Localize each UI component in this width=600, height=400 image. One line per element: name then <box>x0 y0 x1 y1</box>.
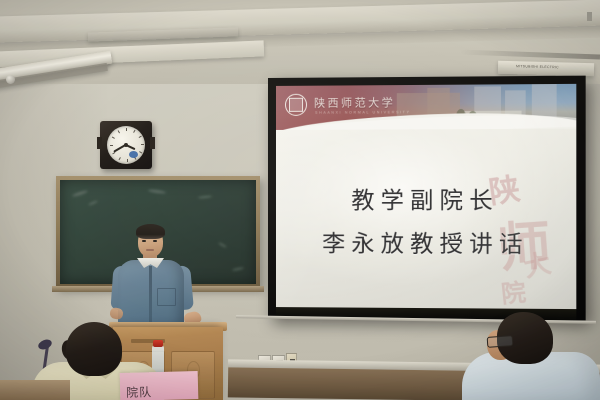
screen-roller-housing: MITSUBISHI ELECTRIC <box>498 61 594 77</box>
pink-sign-text: 院队 <box>126 383 152 400</box>
speaker-mouth <box>146 249 154 251</box>
university-seal-icon <box>285 94 307 116</box>
speaker-shirt-pocket <box>157 288 176 306</box>
front-desk-edge <box>0 380 70 400</box>
clock-brand-mark <box>129 151 138 158</box>
speaker-eye-left <box>142 240 146 242</box>
projection-screen[interactable]: 陕西师范大学 SHAANXI NORMAL UNIVERSITY 陕 师 大 院… <box>268 76 586 321</box>
water-bottle-cap <box>153 340 163 347</box>
slide-header-band: 陕西师范大学 SHAANXI NORMAL UNIVERSITY <box>276 84 576 130</box>
screen-surface: 陕西师范大学 SHAANXI NORMAL UNIVERSITY 陕 师 大 院… <box>276 84 576 309</box>
clock-center-pin <box>124 143 128 147</box>
glasses-icon <box>487 335 514 348</box>
sprinkler-icon <box>6 75 15 84</box>
speaker-eye-right <box>153 240 157 242</box>
university-name-cn: 陕西师范大学 <box>314 94 395 111</box>
speaker-shirt-placket <box>149 266 152 328</box>
speaker-hair <box>136 224 165 239</box>
pink-name-sign: 院队 <box>120 371 199 400</box>
watermark-char-4: 院 <box>499 272 527 309</box>
housing-bracket <box>587 12 592 21</box>
housing-brand-label: MITSUBISHI ELECTRIC <box>516 64 559 69</box>
wall-clock <box>100 121 152 169</box>
slide-title-line-1: 教学副院长 <box>276 181 576 216</box>
audience-left-head <box>66 322 122 376</box>
clock-face <box>107 126 145 164</box>
slide-title-line-2: 李永放教授讲话 <box>276 224 576 259</box>
university-name-en: SHAANXI NORMAL UNIVERSITY <box>315 110 411 115</box>
lecture-hall-photo: MITSUBISHI ELECTRIC <box>0 0 600 400</box>
